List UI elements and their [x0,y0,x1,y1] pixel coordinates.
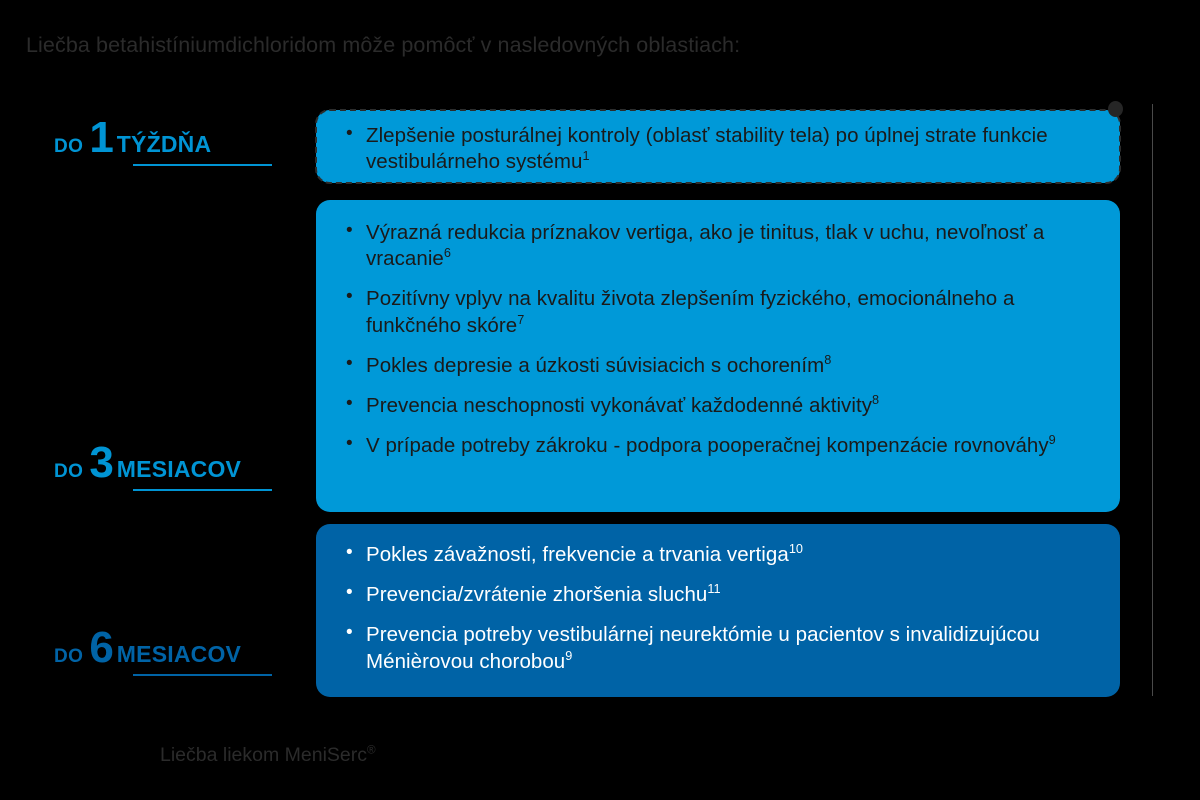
list-item: Prevencia/zvrátenie zhoršenia sluchu11 [344,582,1098,608]
list-item: Prevencia neschopnosti vykonávať každode… [344,393,1098,419]
footer-note: Liečba liekom MeniSerc® [160,744,376,767]
timeline-label-3-months: DO3MESIACOV [0,435,300,499]
timeline-prefix: DO [54,461,83,482]
bullet-list: Zlepšenie posturálnej kontroly (oblasť s… [344,123,1098,175]
list-item: Pozitívny vplyv na kvalitu života zlepše… [344,286,1098,338]
reference-superscript: 6 [444,245,451,260]
timeline-row: DO6MESIACOV [0,630,300,668]
vertical-guide-line [1152,104,1153,696]
slide-canvas: Liečba betahistíniumdichloridom môže pom… [0,0,1200,800]
timeline-label-1-week: DO1TÝŽDŇA [0,110,300,174]
footer-text: Liečba liekom MeniSerc [160,744,367,766]
timeline-prefix: DO [54,136,83,157]
timeline-unit: MESIACOV [117,641,241,667]
timeline-row: DO3MESIACOV [0,445,300,483]
timeline-underline [133,164,272,166]
page-title: Liečba betahistíniumdichloridom môže pom… [26,33,1026,58]
list-item: Zlepšenie posturálnej kontroly (oblasť s… [344,123,1098,175]
list-item: Pokles depresie a úzkosti súvisiacich s … [344,353,1098,379]
list-item: Pokles závažnosti, frekvencie a trvania … [344,542,1098,568]
timeline-row: DO1TÝŽDŇA [0,120,300,158]
list-item: Prevencia potreby vestibulárnej neurektó… [344,622,1098,674]
reference-superscript: 8 [872,392,879,407]
reference-superscript: 9 [565,648,572,663]
timeline-number: 6 [89,623,112,672]
reference-superscript: 8 [824,352,831,367]
reference-superscript: 1 [582,148,589,163]
timeline-underline [133,489,272,491]
reference-superscript: 10 [789,541,803,556]
timeline-label-6-months: DO6MESIACOV [0,620,300,684]
reference-superscript: 9 [1049,433,1056,448]
reference-superscript: 7 [517,312,524,327]
timeline-underline [133,674,272,676]
bullet-list: Pokles závažnosti, frekvencie a trvania … [344,542,1098,675]
footer-registered-mark: ® [367,744,376,757]
content-box-3-months[interactable]: Výrazná redukcia príznakov vertiga, ako … [316,200,1120,512]
selection-handle-dot[interactable] [1108,101,1123,117]
timeline-unit: TÝŽDŇA [117,131,211,157]
reference-superscript: 11 [707,581,720,596]
timeline-number: 1 [89,113,112,162]
content-box-6-months[interactable]: Pokles závažnosti, frekvencie a trvania … [316,524,1120,697]
list-item: Výrazná redukcia príznakov vertiga, ako … [344,220,1098,272]
timeline-prefix: DO [54,646,83,667]
bullet-list: Výrazná redukcia príznakov vertiga, ako … [344,220,1098,460]
timeline-unit: MESIACOV [117,456,241,482]
timeline-number: 3 [89,438,112,487]
list-item: V prípade potreby zákroku - podpora poop… [344,433,1098,459]
content-box-1-week[interactable]: Zlepšenie posturálnej kontroly (oblasť s… [316,110,1120,183]
